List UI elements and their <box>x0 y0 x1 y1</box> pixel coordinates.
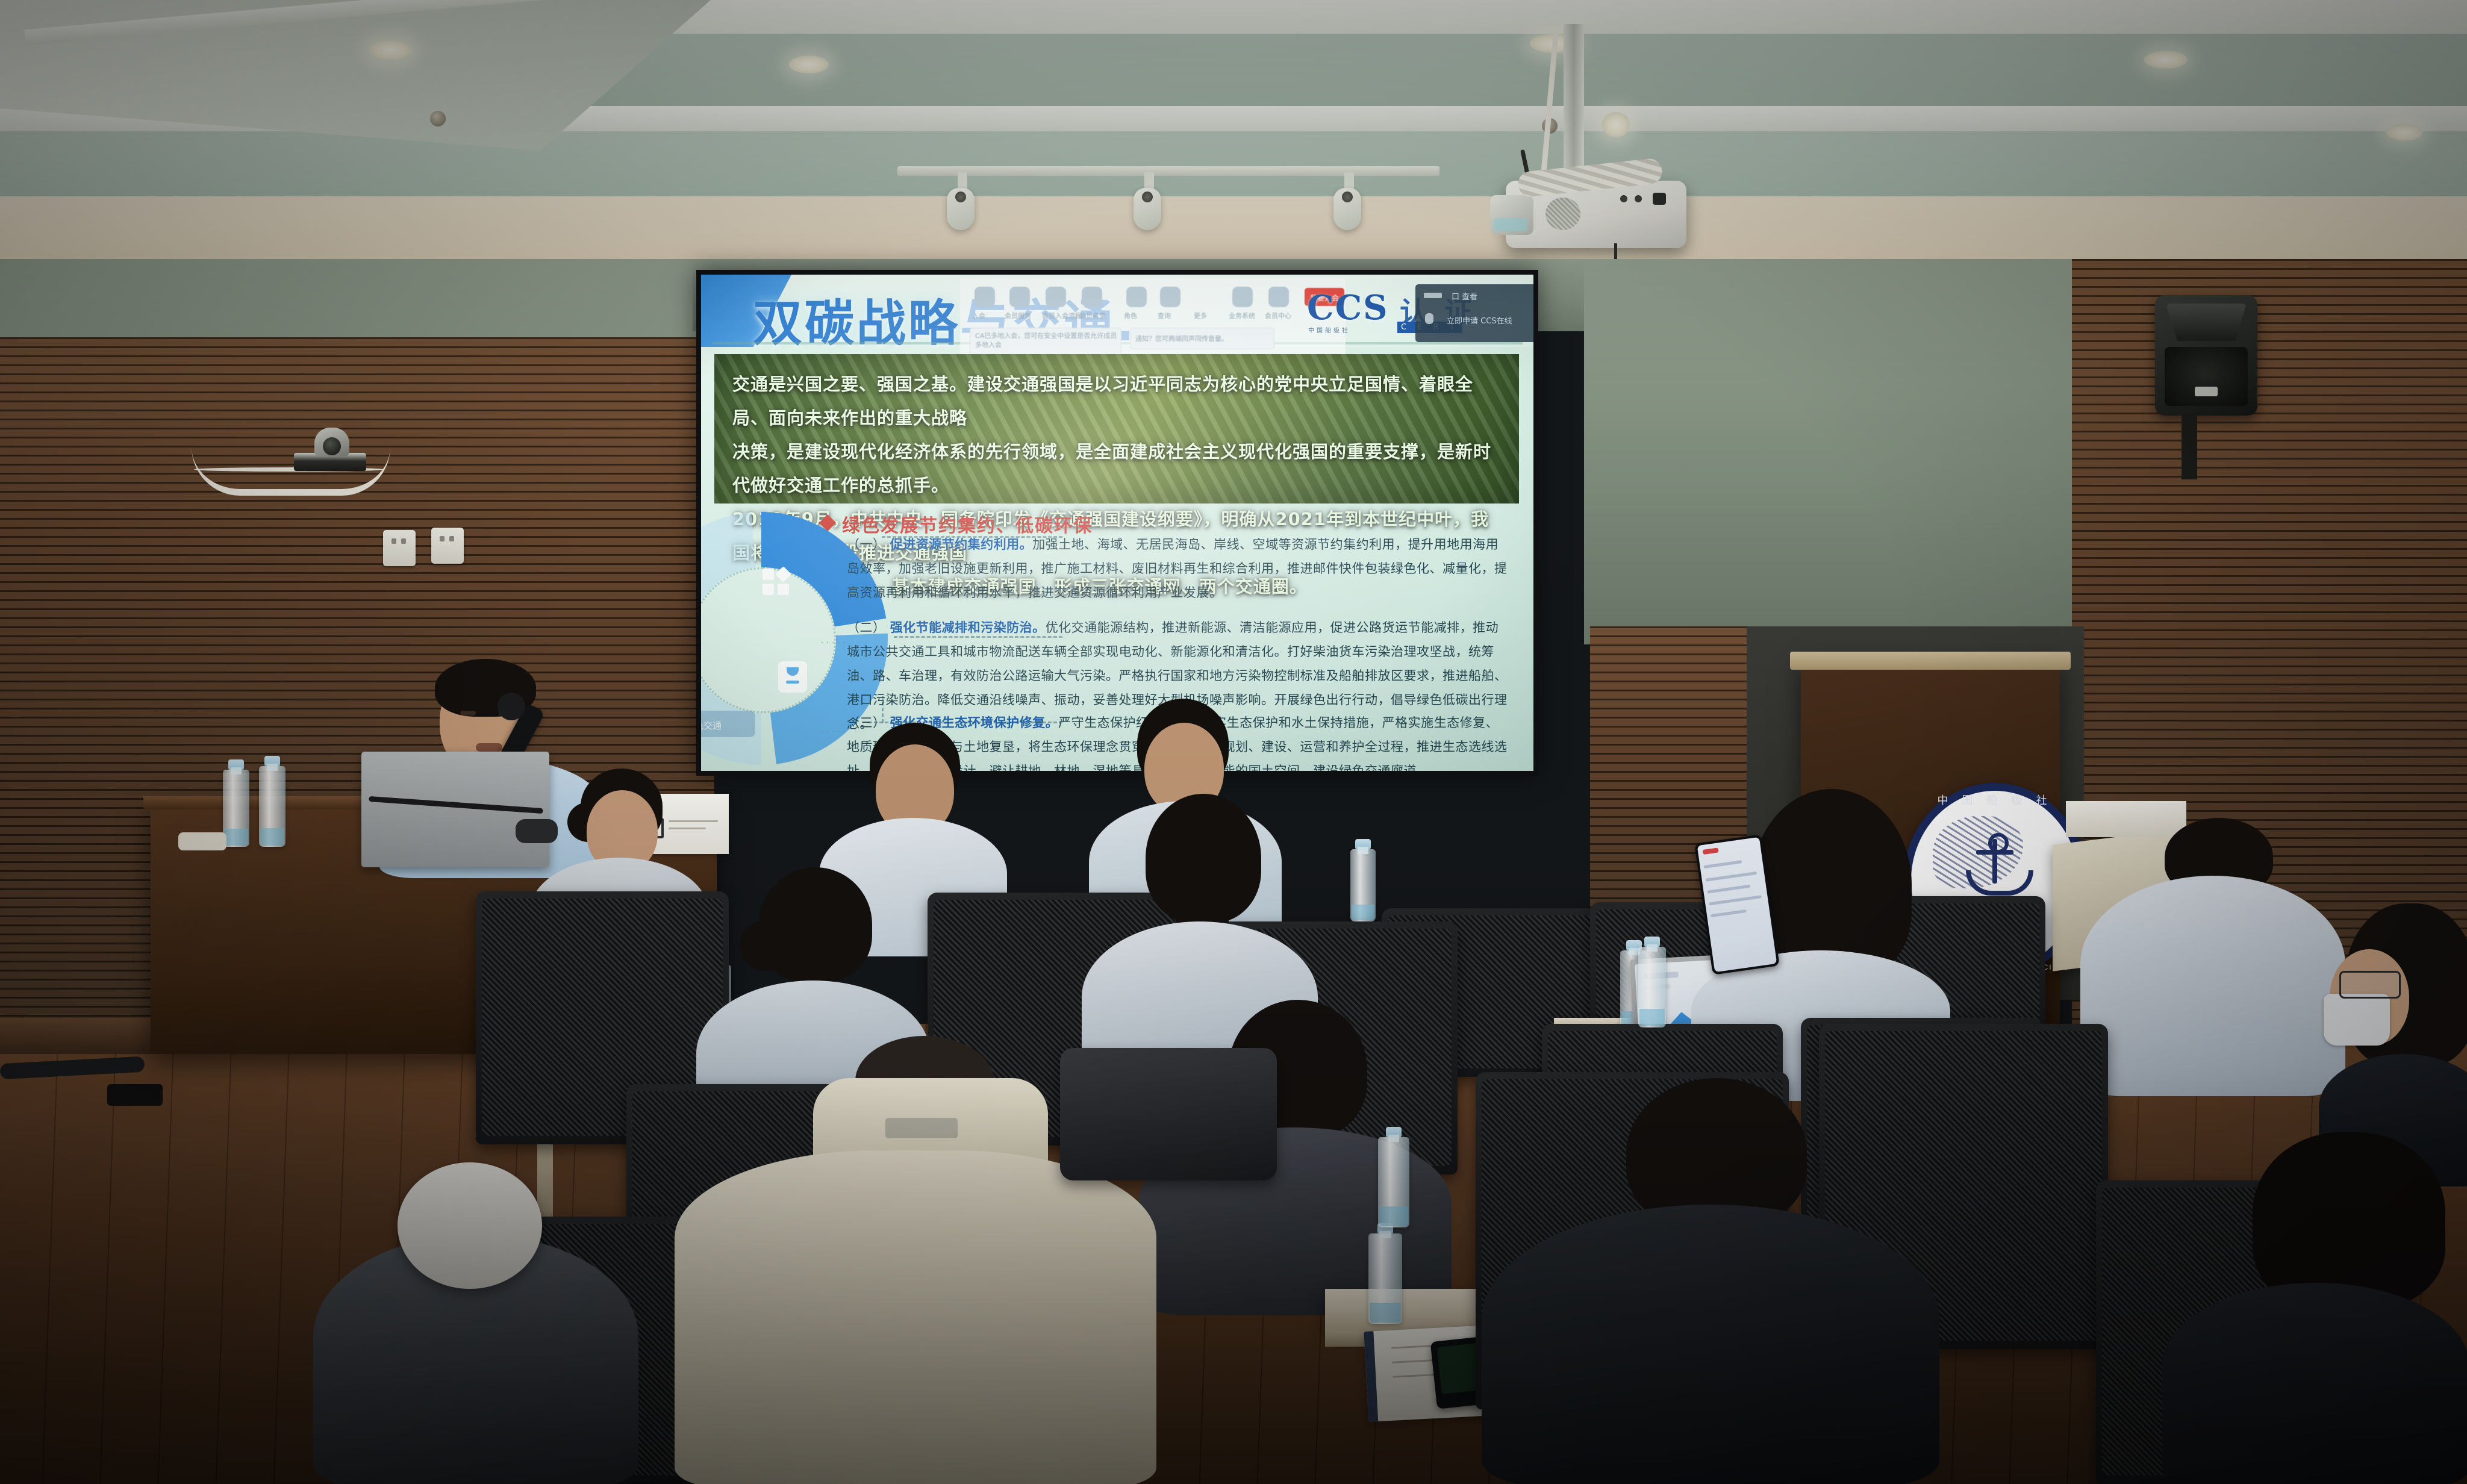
attendee-cream-torso <box>675 1150 1156 1484</box>
presenter-cup <box>178 832 226 850</box>
projector-vent <box>1545 198 1580 230</box>
wall-speaker <box>2155 295 2257 416</box>
presenter-bottle-2 <box>259 766 285 847</box>
ptz-camera <box>294 453 366 471</box>
bottle-foreground-a <box>1368 1233 1402 1324</box>
attendee-right-torso <box>2162 1283 2467 1484</box>
presenter-bottle-1 <box>223 770 249 847</box>
emission-icon <box>778 661 807 693</box>
slide-dark-popup: 口 查看 立即申请 CCS在线 <box>1415 284 1533 342</box>
section-1: （一） 促进资源节约集约利用。加强土地、海域、无居民海岛、岸线、空域等资源节约集… <box>847 532 1509 605</box>
track-light-3 <box>1332 172 1364 230</box>
cable-connector <box>107 1084 163 1106</box>
attendee-4-bun <box>740 920 793 971</box>
speaker-mount-arm <box>2182 413 2197 479</box>
downlight-6 <box>2386 124 2422 141</box>
attendee-dark-torso <box>1482 1205 1939 1484</box>
power-socket-2[interactable] <box>431 528 464 564</box>
microphone-head-icon <box>497 693 525 720</box>
lectern-top <box>1790 652 2071 670</box>
downlight-5 <box>2144 51 2188 69</box>
slide-photo-banner: 交通是兴国之要、强国之基。建设交通强国是以习近平同志为核心的党中央立足国情、着眼… <box>714 354 1519 503</box>
attendee-foreground-dark <box>1482 1078 1939 1484</box>
face-mask <box>2324 994 2390 1046</box>
wall-green-right <box>1584 259 2126 644</box>
bottle-foreground-b <box>1378 1137 1409 1227</box>
glasses-icon <box>2339 971 2401 999</box>
leader-dots-1: ····· <box>820 540 847 552</box>
track-light-1 <box>946 172 977 230</box>
downlight-4 <box>1602 112 1630 137</box>
attendee-foreground-right <box>2144 1132 2467 1484</box>
leader-dots-2: ····· <box>820 636 847 649</box>
projection-screen: 双碳战略与交通... 我要入会 入会 <box>701 275 1533 771</box>
camera-lens-icon <box>323 437 341 455</box>
ceiling-green-band-2 <box>0 131 2467 196</box>
attendee-right-hair <box>2253 1132 2445 1307</box>
donut-tag: 绿色交通 <box>701 711 755 737</box>
overlay-notice-right: 通知？您可两端同声同传音量。 <box>1130 328 1274 349</box>
presentation-slide: 双碳战略与交通... 我要入会 入会 <box>701 275 1533 771</box>
speaker-driver-icon <box>2165 347 2248 406</box>
attendee-blue-shirt <box>2074 818 2351 1095</box>
bottle-foreground-d <box>1638 947 1666 1027</box>
projector-lens <box>1490 195 1533 235</box>
downlight-1 <box>369 40 412 60</box>
power-socket-1[interactable] <box>383 530 416 566</box>
ccs-wordmark: CCS <box>1307 288 1389 328</box>
ccs-tiny-label: 中国船级社 <box>1308 325 1350 334</box>
attendee-blue-torso <box>2080 876 2345 1096</box>
resources-icon <box>763 569 790 596</box>
bottle-row1-a <box>1350 849 1376 921</box>
stool-white <box>398 1162 542 1289</box>
attendee-cream-label <box>885 1118 958 1138</box>
speaker-badge <box>2195 387 2218 396</box>
track-light-2 <box>1132 172 1164 230</box>
ceiling-soffit <box>0 196 2467 263</box>
bag-on-chair <box>1060 1048 1277 1180</box>
downlight-2 <box>789 55 829 73</box>
conference-room-photo: 双碳战略与交通... 我要入会 入会 <box>0 0 2467 1484</box>
sprinkler-2 <box>430 111 446 126</box>
speaker-horn-icon <box>2166 304 2247 341</box>
presenter-mouth <box>476 743 502 752</box>
presenter-eye-left <box>460 711 476 715</box>
